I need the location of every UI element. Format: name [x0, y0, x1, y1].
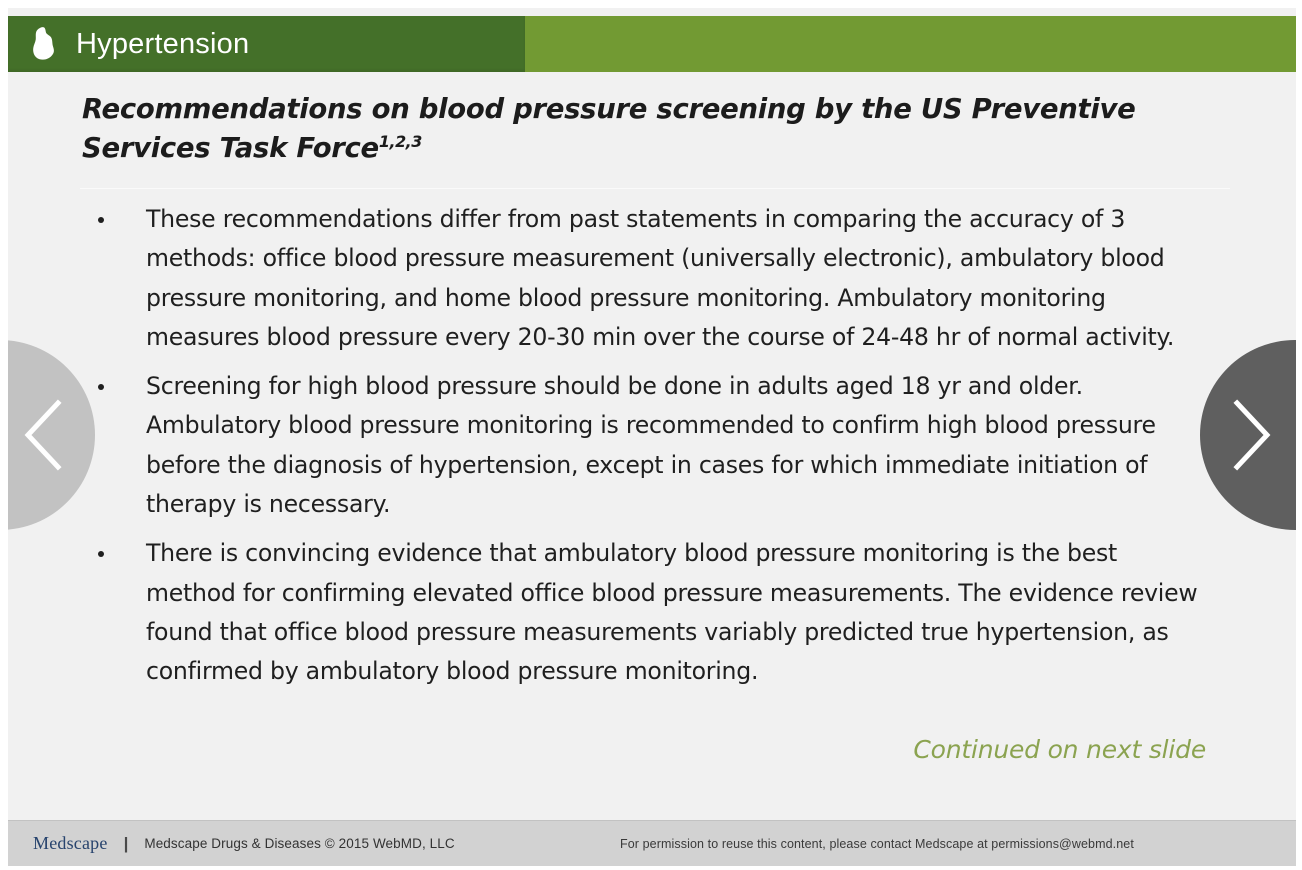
footer-separator: | [124, 834, 129, 854]
page-title: Recommendations on blood pressure screen… [82, 90, 1202, 168]
bullet-marker-icon [98, 384, 104, 390]
footer-copyright: Medscape Drugs & Diseases © 2015 WebMD, … [144, 836, 454, 851]
frame-right [1296, 0, 1302, 870]
list-item: These recommendations differ from past s… [88, 200, 1198, 357]
list-item-text: There is convincing evidence that ambula… [146, 539, 1197, 685]
slide-body: These recommendations differ from past s… [88, 200, 1198, 702]
chevron-left-icon[interactable] [0, 397, 66, 473]
medscape-logo: Medscape [33, 833, 108, 854]
list-item-text: These recommendations differ from past s… [146, 205, 1174, 351]
list-item: There is convincing evidence that ambula… [88, 534, 1198, 691]
slide-footer: Medscape | Medscape Drugs & Diseases © 2… [8, 820, 1296, 866]
page-title-references: 1,2,3 [379, 132, 422, 151]
next-slide-button[interactable] [1200, 340, 1302, 530]
blood-drop-icon [30, 27, 56, 61]
continued-note: Continued on next slide [913, 735, 1206, 764]
frame-left [0, 0, 8, 870]
bullet-marker-icon [98, 551, 104, 557]
header-title: Hypertension [76, 28, 249, 61]
header-light-segment [525, 16, 1296, 72]
list-item: Screening for high blood pressure should… [88, 367, 1198, 524]
page-title-text: Recommendations on blood pressure screen… [82, 93, 1135, 164]
previous-slide-button[interactable] [0, 340, 95, 530]
slide-header-bar: Hypertension [8, 16, 1296, 72]
bullet-marker-icon [98, 217, 104, 223]
footer-permission-text: For permission to reuse this content, pl… [620, 837, 1134, 851]
list-item-text: Screening for high blood pressure should… [146, 372, 1156, 518]
frame-bottom [0, 866, 1302, 870]
title-divider [80, 188, 1230, 189]
chevron-right-icon[interactable] [1229, 397, 1302, 473]
slide-container: Hypertension Recommendations on blood pr… [0, 0, 1302, 870]
frame-top [0, 0, 1302, 8]
header-dark-segment: Hypertension [8, 16, 525, 72]
